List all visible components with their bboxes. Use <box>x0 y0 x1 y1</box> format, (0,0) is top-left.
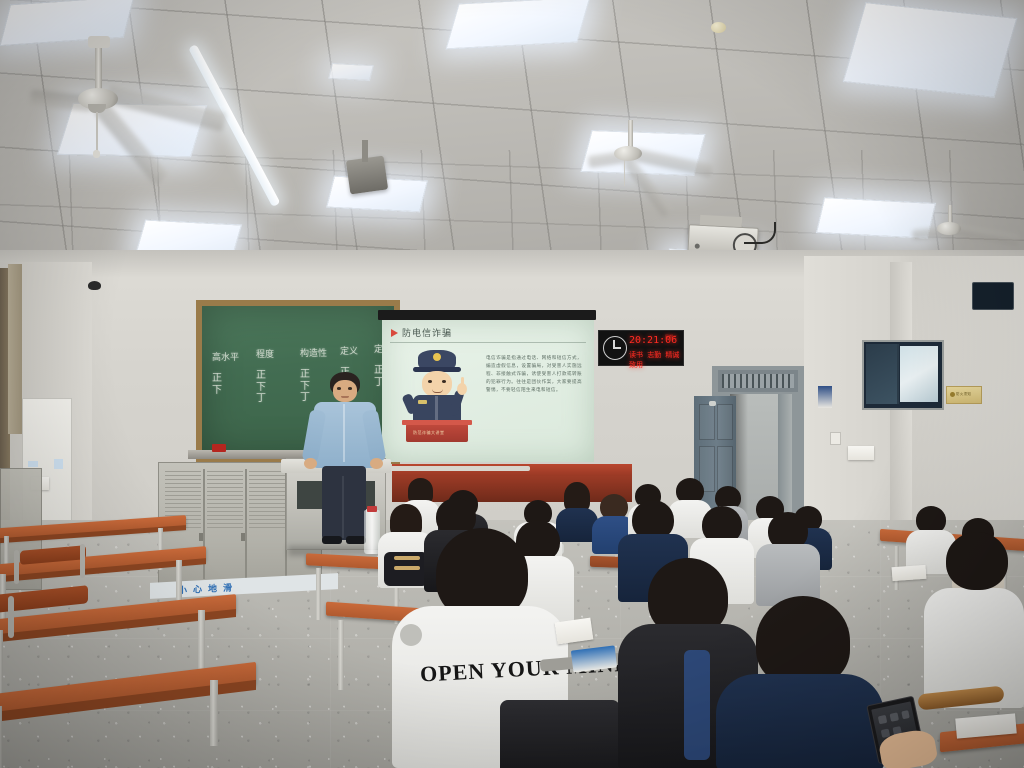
classroom-photo: 高水平 正 下 程度 正 下 丁 构造性 正 下 丁 定义 正 乏 定理 正 丁… <box>0 0 1024 768</box>
blackboard-column: 高水平 正 下 <box>212 342 239 396</box>
door-handle-icon[interactable] <box>709 401 716 406</box>
clock-motto: 读书 志勤 精诚 致用 <box>629 350 683 370</box>
tshirt-shoulder-print <box>400 624 422 646</box>
lecturer-shoe <box>346 536 366 544</box>
chair-frame <box>8 596 14 638</box>
student-head <box>756 596 850 686</box>
transom-grille <box>722 374 794 388</box>
ceiling-light <box>328 63 374 81</box>
cabinet-handle-icon[interactable] <box>241 533 245 541</box>
window-pane-right <box>900 346 938 402</box>
officer-face <box>422 371 452 397</box>
wall-paper-notice <box>848 446 874 460</box>
door-transom <box>718 370 798 392</box>
led-clock: 20:21:06 星期三 读书 志勤 精诚 致用 <box>598 330 684 366</box>
officer-podium-label: 防范诈骗大讲堂 <box>413 430 445 436</box>
plaque-label: 防火须知 <box>956 392 971 397</box>
backpack-strap <box>684 650 710 760</box>
slide-body-text: 电信诈骗是指通过电话、网络和短信方式，编造虚假信息，设置骗局，对受害人实施远程、… <box>486 354 582 394</box>
wall-switch[interactable] <box>830 432 841 445</box>
desk-row <box>0 680 260 768</box>
lecturer-face <box>333 380 357 402</box>
slide-bullet-icon <box>391 329 398 337</box>
ceiling-fan <box>40 36 230 166</box>
clock-weekday: 星期三 <box>665 334 677 340</box>
speaker-bracket <box>362 140 368 162</box>
cabinet-handle-icon[interactable] <box>199 533 203 541</box>
lecturer-hand-right <box>370 458 383 469</box>
student-front-far-right <box>716 596 884 768</box>
ceiling-light <box>843 2 1018 98</box>
projector-mount <box>700 215 742 227</box>
officer-podium: 防范诈骗大讲堂 <box>406 424 468 442</box>
cabinet-label <box>54 459 63 469</box>
smoke-detector-icon <box>711 22 726 33</box>
wall-mounted-speaker <box>972 282 1014 310</box>
wall-notice <box>818 386 832 408</box>
plaque-emblem-icon <box>950 392 955 397</box>
ceiling-fan <box>570 120 720 215</box>
clock-dial-icon <box>603 336 627 360</box>
fan-pull-cord <box>96 112 98 152</box>
blackboard-column: 程度 正 下 丁 <box>256 339 274 405</box>
projection-screen-housing <box>378 310 596 320</box>
hat-badge-icon <box>433 353 441 361</box>
student-rightmost <box>924 558 1024 708</box>
chair[interactable] <box>500 700 620 768</box>
student-top <box>716 674 884 768</box>
student-head <box>946 532 1008 590</box>
chalk-eraser <box>212 444 226 452</box>
slide-divider <box>390 342 586 343</box>
projection-screen: 防电信诈骗 防范诈骗大讲堂 电信诈骗是指通过电话、网络和短信方式，编造虚假信息，… <box>382 320 594 462</box>
classroom-window <box>862 340 944 410</box>
left-window-frame <box>8 264 22 434</box>
lecturer-trousers <box>322 466 366 540</box>
cabinet-label <box>28 461 38 467</box>
lecturer-hand-left <box>304 458 317 469</box>
cartoon-police-officer: 防范诈骗大讲堂 <box>400 350 474 446</box>
lecturer-shoe <box>322 536 342 544</box>
security-camera-icon <box>88 281 101 290</box>
student <box>756 512 820 604</box>
handout-paper <box>892 565 927 581</box>
ceiling-light <box>445 0 590 49</box>
wall-plaque: 防火须知 <box>946 386 982 404</box>
window-pane-left <box>866 344 898 404</box>
bottle-cap-icon <box>367 506 377 512</box>
chair-frame <box>14 550 19 584</box>
slide-title: 防电信诈骗 <box>402 326 452 339</box>
chair-frame <box>80 544 85 578</box>
